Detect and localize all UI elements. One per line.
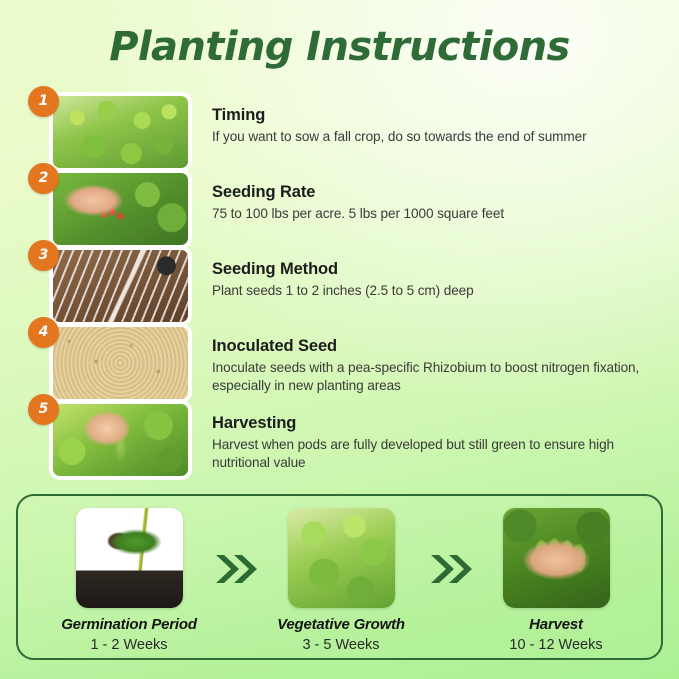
pea-seeds-photo: [53, 327, 188, 399]
step-description: Harvest when pods are fully developed bu…: [212, 436, 664, 472]
step-title: Timing: [212, 105, 664, 126]
step-thumbnail-wrap: 1: [53, 96, 188, 168]
step-title: Seeding Method: [212, 259, 664, 280]
step-row: 3 Seeding Method Plant seeds 1 to 2 inch…: [0, 250, 679, 327]
timeline-stage-duration: 1 - 2 Weeks: [54, 635, 204, 655]
hand-picking-pod-photo: [53, 404, 188, 476]
step-text: Harvesting Harvest when pods are fully d…: [212, 413, 664, 472]
step-description: Inoculate seeds with a pea-specific Rhiz…: [212, 359, 664, 395]
step-description: If you want to sow a fall crop, do so to…: [212, 128, 664, 146]
step-thumbnail-wrap: 5: [53, 404, 188, 476]
timeline-stage-harvest: Harvest 10 - 12 Weeks: [481, 508, 631, 655]
step-text: Seeding Rate 75 to 100 lbs per acre. 5 l…: [212, 182, 664, 223]
step-text: Timing If you want to sow a fall crop, d…: [212, 105, 664, 146]
step-text: Seeding Method Plant seeds 1 to 2 inches…: [212, 259, 664, 300]
step-number-badge: 3: [28, 240, 59, 271]
step-number-badge: 2: [28, 163, 59, 194]
double-chevron-right-icon: [428, 552, 474, 586]
step-description: 75 to 100 lbs per acre. 5 lbs per 1000 s…: [212, 205, 664, 223]
step-number-badge: 4: [28, 317, 59, 348]
timeline-stage-duration: 3 - 5 Weeks: [266, 635, 416, 655]
harvested-pea-pods-photo: [503, 508, 610, 608]
step-number-badge: 5: [28, 394, 59, 425]
step-title: Harvesting: [212, 413, 664, 434]
step-text: Inoculated Seed Inoculate seeds with a p…: [212, 336, 664, 395]
step-title: Seeding Rate: [212, 182, 664, 203]
step-description: Plant seeds 1 to 2 inches (2.5 to 5 cm) …: [212, 282, 664, 300]
sprouting-seed-photo: [76, 508, 183, 608]
planting-instructions-infographic: Planting Instructions 1 Timing If you wa…: [0, 0, 679, 679]
steps-list: 1 Timing If you want to sow a fall crop,…: [0, 96, 679, 481]
young-pea-plants-photo: [288, 508, 395, 608]
pea-foliage-photo: [53, 96, 188, 168]
step-number-badge: 1: [28, 86, 59, 117]
page-title: Planting Instructions: [0, 24, 679, 70]
timeline-stage-label: Germination Period: [54, 615, 204, 635]
double-chevron-right-icon: [213, 552, 259, 586]
timeline-stage-germination: Germination Period 1 - 2 Weeks: [54, 508, 204, 655]
step-title: Inoculated Seed: [212, 336, 664, 357]
step-thumbnail-wrap: 4: [53, 327, 188, 399]
rake-on-soil-photo: [53, 250, 188, 322]
timeline-stage-label: Vegetative Growth: [266, 615, 416, 635]
step-thumbnail-wrap: 3: [53, 250, 188, 322]
step-row: 1 Timing If you want to sow a fall crop,…: [0, 96, 679, 173]
timeline-stage-label: Harvest: [481, 615, 631, 635]
step-row: 2 Seeding Rate 75 to 100 lbs per acre. 5…: [0, 173, 679, 250]
growth-timeline-panel: Germination Period 1 - 2 Weeks Vegetativ…: [16, 494, 663, 660]
timeline-stage-duration: 10 - 12 Weeks: [481, 635, 631, 655]
hand-scattering-seed-photo: [53, 173, 188, 245]
step-row: 4 Inoculated Seed Inoculate seeds with a…: [0, 327, 679, 404]
timeline-stage-vegetative-growth: Vegetative Growth 3 - 5 Weeks: [266, 508, 416, 655]
step-row: 5 Harvesting Harvest when pods are fully…: [0, 404, 679, 481]
step-thumbnail-wrap: 2: [53, 173, 188, 245]
